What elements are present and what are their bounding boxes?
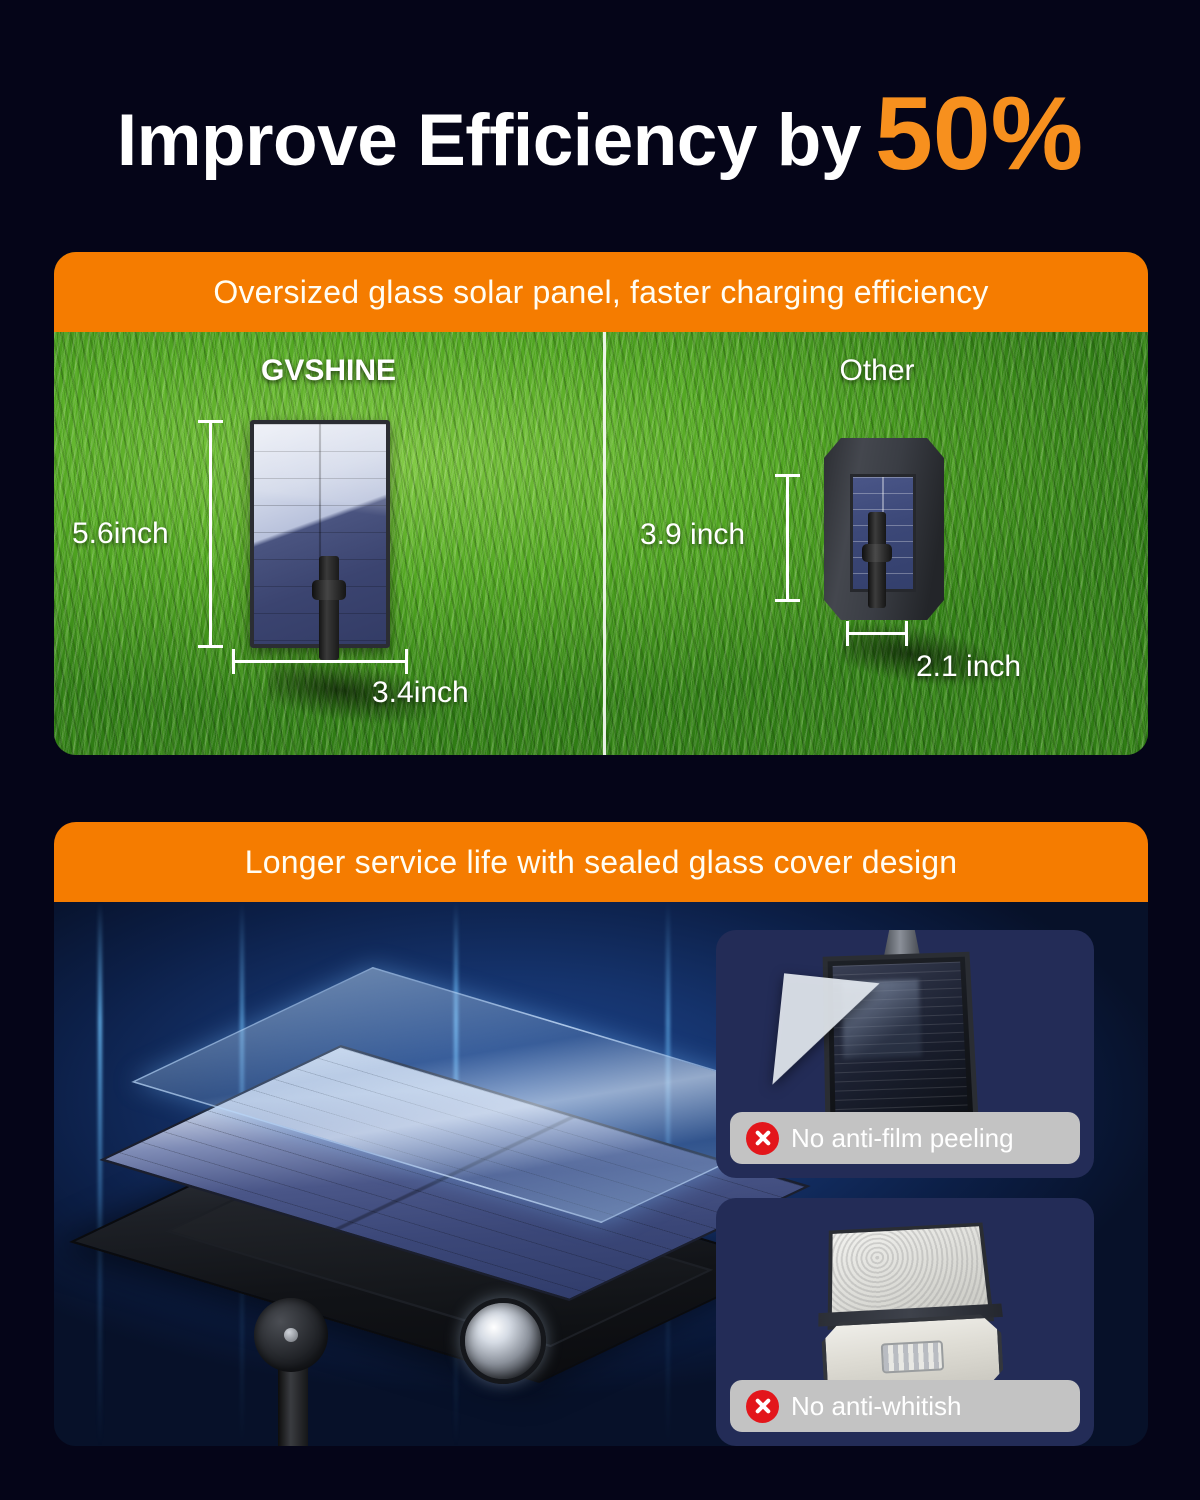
sealed-glass-card: Longer service life with sealed glass co… bbox=[54, 822, 1148, 1446]
gvshine-width-label: 3.4inch bbox=[372, 676, 469, 710]
gvshine-height-dimension-line bbox=[209, 420, 212, 648]
gvshine-stake bbox=[319, 556, 339, 660]
adjustment-knob bbox=[254, 1298, 328, 1372]
exploded-view-scene: No anti-film peeling No anti-whi bbox=[54, 902, 1148, 1446]
peeling-film-flap bbox=[772, 973, 879, 1094]
comparison-divider bbox=[603, 332, 606, 755]
other-width-label: 2.1 inch bbox=[916, 650, 1021, 684]
whitish-unit bbox=[808, 1217, 1013, 1403]
sealed-glass-banner-text: Longer service life with sealed glass co… bbox=[245, 844, 958, 881]
other-height-dimension-line bbox=[786, 474, 789, 602]
led-lens bbox=[460, 1298, 546, 1384]
other-label: Other bbox=[606, 354, 1148, 388]
caption-whitish-text: No anti-whitish bbox=[791, 1391, 962, 1422]
headline-accent-text: 50% bbox=[875, 82, 1083, 186]
thumbnail-whitish: No anti-whitish bbox=[716, 1198, 1094, 1446]
caption-film-peeling: No anti-film peeling bbox=[730, 1112, 1080, 1164]
other-height-label: 3.9 inch bbox=[640, 518, 745, 552]
comparison-banner-text: Oversized glass solar panel, faster char… bbox=[213, 274, 988, 311]
gvshine-label: GVSHINE bbox=[54, 354, 603, 388]
whitish-led-array bbox=[881, 1341, 944, 1374]
comparison-side-gvshine: GVSHINE 5.6inch 3.4inch bbox=[54, 332, 603, 755]
thumbnail-film-peeling: No anti-film peeling bbox=[716, 930, 1094, 1178]
exploded-solar-light bbox=[102, 946, 702, 1446]
gvshine-width-dimension-line bbox=[232, 660, 408, 663]
comparison-card: Oversized glass solar panel, faster char… bbox=[54, 252, 1148, 755]
sealed-glass-banner: Longer service life with sealed glass co… bbox=[54, 822, 1148, 902]
grass-background: GVSHINE 5.6inch 3.4inch Other bbox=[54, 332, 1148, 755]
infographic-page: Improve Efficiency by 50% Oversized glas… bbox=[0, 0, 1200, 1500]
caption-film-peeling-text: No anti-film peeling bbox=[791, 1123, 1014, 1154]
comparison-side-other: Other 3.9 inch 2.1 inch bbox=[606, 332, 1148, 755]
headline-main-text: Improve Efficiency by bbox=[117, 104, 861, 177]
comparison-banner: Oversized glass solar panel, faster char… bbox=[54, 252, 1148, 332]
page-title: Improve Efficiency by 50% bbox=[0, 78, 1200, 188]
red-x-icon bbox=[746, 1122, 779, 1155]
caption-whitish: No anti-whitish bbox=[730, 1380, 1080, 1432]
other-width-dimension-line bbox=[846, 632, 908, 635]
gvshine-height-label: 5.6inch bbox=[72, 517, 169, 551]
other-collar bbox=[862, 544, 892, 562]
red-x-icon bbox=[746, 1390, 779, 1423]
gvshine-collar bbox=[312, 580, 346, 600]
